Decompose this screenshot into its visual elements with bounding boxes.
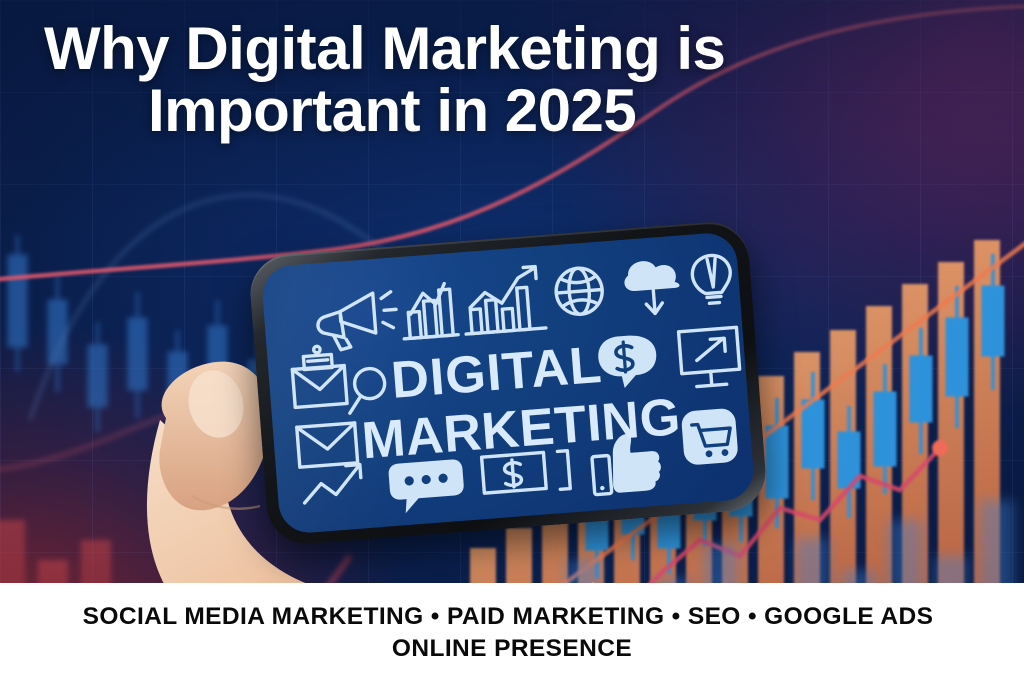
title-line-1: Why Digital Marketing is — [44, 15, 725, 82]
phone-frame: DIGITAL MARKETING — [248, 219, 769, 547]
poster-canvas: Why Digital Marketing is Important in 20… — [0, 0, 1024, 683]
phone-screen[interactable]: DIGITAL MARKETING — [260, 231, 755, 535]
keywords-line-2: ONLINE PRESENCE — [392, 635, 632, 663]
title-line-2: Important in 2025 — [44, 80, 914, 142]
lightbulb-icon — [691, 254, 733, 304]
dollar-chat-icon — [597, 334, 659, 390]
cloud-download-icon — [623, 259, 682, 316]
line-chart-growth-icon — [461, 266, 546, 334]
keywords-band: SOCIAL MEDIA MARKETING • PAID MARKETING … — [0, 583, 1024, 683]
keywords-line-1: SOCIAL MEDIA MARKETING • PAID MARKETING … — [83, 603, 934, 631]
trend-endpoint-dot — [932, 440, 948, 456]
monitor-arrow-icon — [679, 327, 741, 387]
page-title: Why Digital Marketing is Important in 20… — [44, 18, 914, 143]
smartphone[interactable]: DIGITAL MARKETING — [248, 219, 769, 547]
shopping-cart-icon — [681, 408, 739, 466]
globe-icon — [554, 267, 603, 316]
